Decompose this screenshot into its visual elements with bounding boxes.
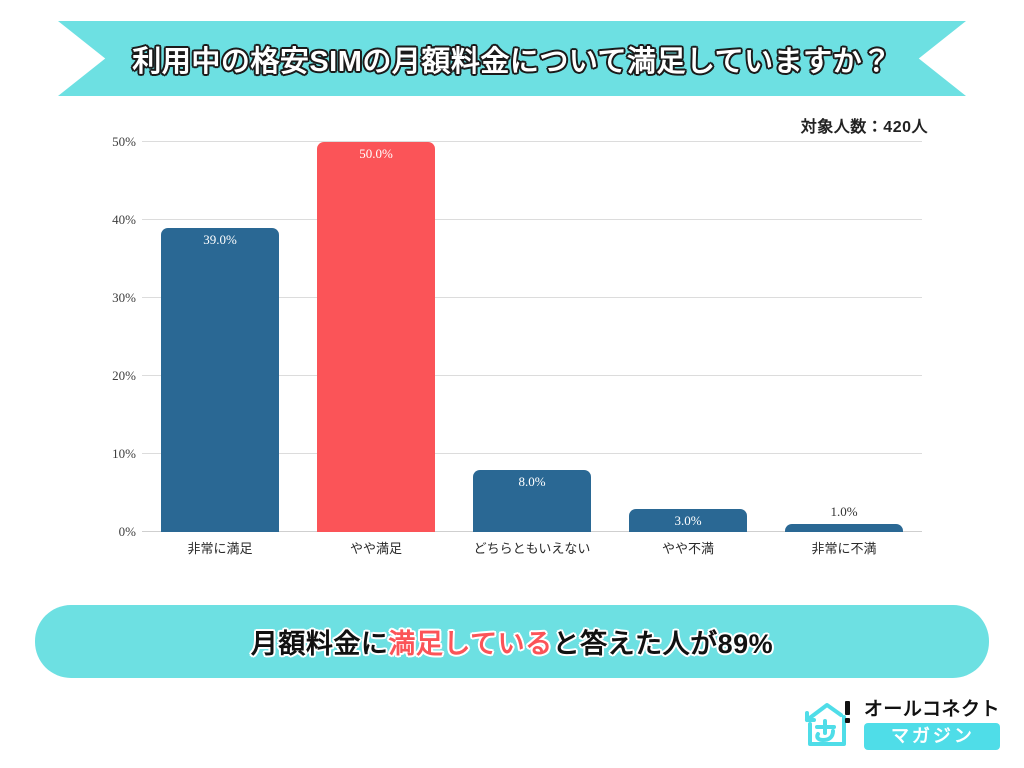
- bar-column[interactable]: 1.0%: [785, 142, 903, 532]
- bar-value-label: 8.0%: [473, 474, 591, 490]
- bar-column[interactable]: 50.0%: [317, 142, 435, 532]
- page-title: 利用中の格安SIMの月額料金について満足していますか？: [132, 38, 891, 80]
- plot-area: 39.0%50.0%8.0%3.0%1.0%: [142, 142, 922, 532]
- bar[interactable]: [161, 228, 279, 532]
- y-axis-labels: 0%10%20%30%40%50%: [100, 142, 136, 532]
- x-axis-tick-label: どちらともいえない: [474, 538, 591, 557]
- x-axis-tick-label: 非常に不満: [811, 538, 876, 557]
- summary-suffix: と答えた人が89%: [553, 629, 774, 659]
- logo-line-2: マガジン: [864, 723, 1000, 750]
- bar-series: 39.0%50.0%8.0%3.0%1.0%: [142, 142, 922, 532]
- bar-value-label: 39.0%: [161, 232, 279, 248]
- y-axis-tick-label: 30%: [112, 290, 136, 306]
- bar-column[interactable]: 3.0%: [629, 142, 747, 532]
- bar-column[interactable]: 8.0%: [473, 142, 591, 532]
- x-axis-tick-label: やや満足: [350, 538, 402, 557]
- bar[interactable]: [785, 524, 903, 532]
- logo-wordmark: オールコネクト マガジン: [864, 700, 1000, 750]
- y-axis-tick-label: 20%: [112, 368, 136, 384]
- infographic-root: 利用中の格安SIMの月額料金について満足していますか？ 対象人数：420人 0%…: [0, 0, 1024, 768]
- y-axis-tick-label: 40%: [112, 212, 136, 228]
- bar-column[interactable]: 39.0%: [161, 142, 279, 532]
- x-axis-tick-label: 非常に満足: [187, 538, 252, 557]
- bar-value-label: 50.0%: [317, 146, 435, 162]
- summary-banner: 月額料金に満足していると答えた人が89%: [35, 605, 989, 678]
- logo-line-1: オールコネクト: [864, 700, 1000, 719]
- y-axis-tick-label: 10%: [112, 446, 136, 462]
- bar-value-label: 3.0%: [629, 513, 747, 529]
- title-banner: 利用中の格安SIMの月額料金について満足していますか？: [58, 21, 966, 96]
- summary-prefix: 月額料金に: [251, 629, 389, 659]
- y-axis-tick-label: 0%: [119, 524, 136, 540]
- house-with-o-icon: [801, 700, 855, 750]
- y-axis-tick-label: 50%: [112, 134, 136, 150]
- brand-logo[interactable]: オールコネクト マガジン: [801, 696, 1000, 754]
- summary-text: 月額料金に満足していると答えた人が89%: [251, 622, 773, 661]
- bar-value-label: 1.0%: [785, 504, 903, 520]
- bar[interactable]: [317, 142, 435, 532]
- summary-highlight: 満足している: [388, 629, 552, 659]
- x-axis-tick-label: やや不満: [662, 538, 714, 557]
- bar-chart: 0%10%20%30%40%50% 39.0%50.0%8.0%3.0%1.0%…: [0, 130, 1024, 570]
- x-axis-labels: 非常に満足やや満足どちらともいえないやや不満非常に不満: [142, 538, 922, 564]
